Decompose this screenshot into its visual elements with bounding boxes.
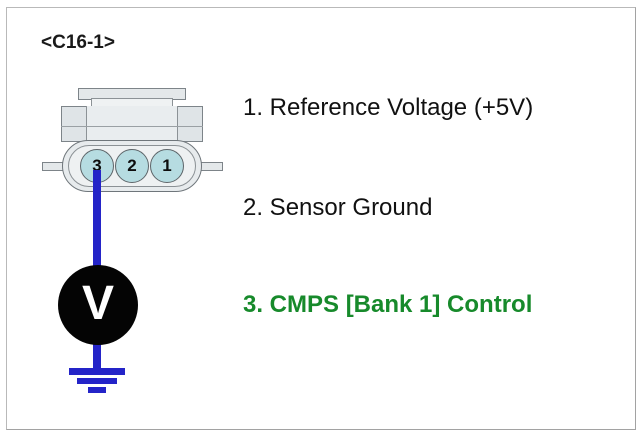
ground-symbol-bar-2 — [77, 378, 117, 384]
diagram-canvas: <C16-1> 3 2 1 V 1. Reference Voltage (+5… — [0, 0, 644, 438]
ground-symbol-bar-1 — [69, 368, 125, 375]
voltmeter-symbol: V — [58, 265, 138, 345]
pin-function-3: 3. CMPS [Bank 1] Control — [243, 293, 532, 317]
connector-shoulder-middle — [86, 106, 178, 142]
connector-pin-1[interactable]: 1 — [150, 149, 184, 183]
ground-symbol-bar-3 — [88, 387, 106, 393]
pin-function-2: 2. Sensor Ground — [243, 196, 432, 220]
connector-shoulder-seam — [61, 126, 203, 127]
connector-illustration: 3 2 1 — [40, 84, 225, 199]
pin-function-1: 1. Reference Voltage (+5V) — [243, 96, 533, 120]
connector-id-label: <C16-1> — [41, 32, 115, 54]
connector-pin-2[interactable]: 2 — [115, 149, 149, 183]
